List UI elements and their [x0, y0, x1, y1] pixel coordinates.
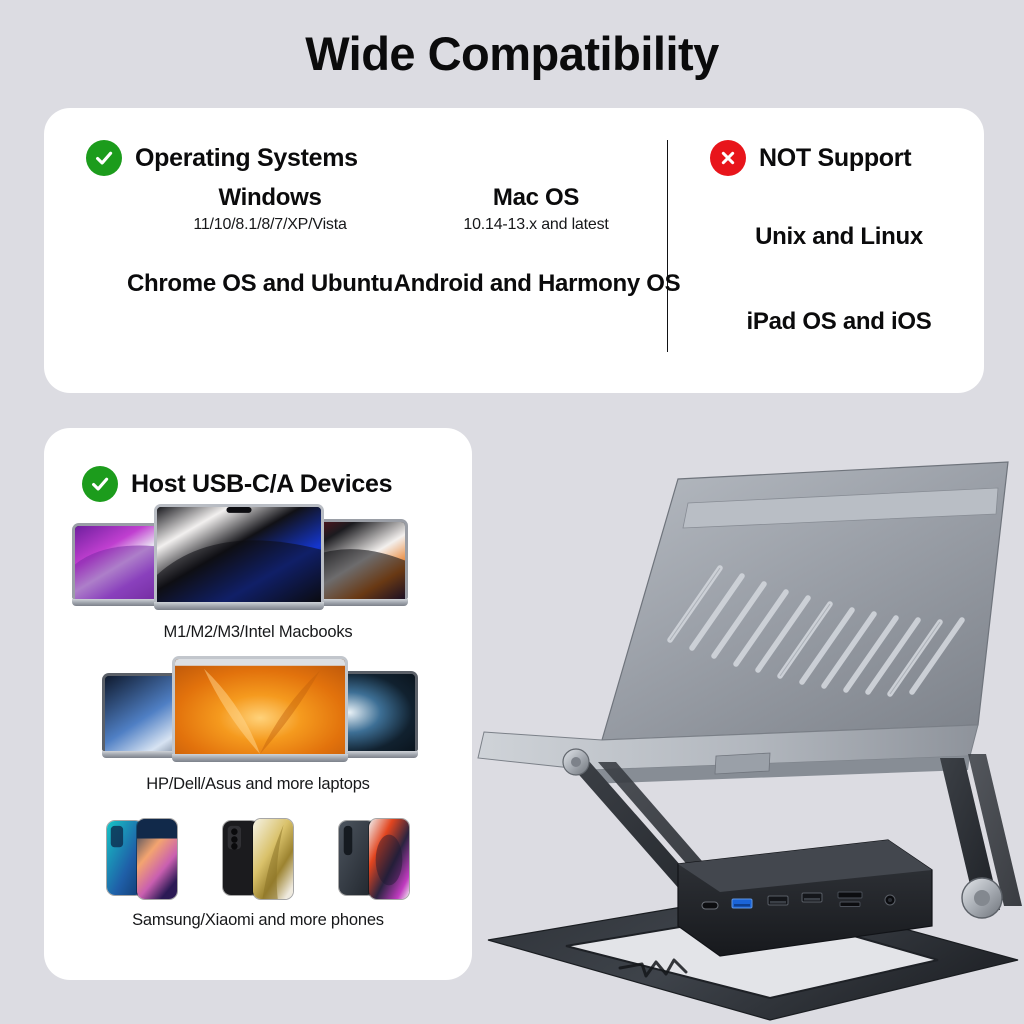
os-entry-detail: 10.14-13.x and latest	[402, 216, 670, 234]
macbooks-art	[64, 502, 452, 614]
port-usb-a	[802, 893, 822, 902]
port-usb-c	[702, 902, 718, 909]
check-circle-icon	[86, 140, 122, 176]
device-group-phones: Samsung/Xiaomi and more phones	[64, 816, 452, 930]
device-group-caption: Samsung/Xiaomi and more phones	[64, 911, 452, 930]
phone-image	[252, 818, 294, 900]
product-photo-laptop-stand	[470, 440, 1024, 1024]
port-usb-a	[768, 896, 788, 905]
device-group-caption: HP/Dell/Asus and more laptops	[64, 775, 452, 794]
os-entry-detail: 11/10/8.1/8/7/XP/Vista	[136, 216, 404, 234]
device-group-caption: M1/M2/M3/Intel Macbooks	[64, 623, 452, 642]
port-usb-a-blue	[732, 899, 752, 908]
check-circle-icon	[82, 466, 118, 502]
not-supported-item: Unix and Linux	[689, 223, 989, 251]
card-divider	[667, 140, 668, 352]
operating-systems-heading: Operating Systems	[86, 140, 358, 176]
device-group-macbooks: M1/M2/M3/Intel Macbooks	[64, 502, 452, 642]
os-entry-android-harmonyos: Android and Harmony OS	[392, 270, 682, 298]
not-supported-item: iPad OS and iOS	[689, 308, 989, 336]
device-group-windows-laptops: HP/Dell/Asus and more laptops	[64, 656, 452, 794]
laptop-image	[172, 656, 348, 762]
os-entry-name: Android and Harmony OS	[392, 270, 682, 298]
operating-systems-card: Operating Systems Windows 11/10/8.1/8/7/…	[44, 108, 984, 393]
port-sd-card-slot	[838, 892, 862, 898]
phone-image	[136, 818, 178, 900]
host-devices-label: Host USB-C/A Devices	[131, 470, 392, 499]
stand-tray	[478, 462, 1008, 784]
phone-image	[368, 818, 410, 900]
operating-systems-label: Operating Systems	[135, 144, 358, 173]
page-title: Wide Compatibility	[0, 26, 1024, 81]
not-support-heading: NOT Support	[710, 140, 911, 176]
x-circle-icon	[710, 140, 746, 176]
windows-laptops-art	[64, 656, 452, 766]
os-entry-chromeos-ubuntu: Chrome OS and Ubuntu	[116, 270, 404, 298]
not-support-label: NOT Support	[759, 144, 911, 173]
port-micro-sd-slot	[840, 902, 860, 907]
os-entry-windows: Windows 11/10/8.1/8/7/XP/Vista	[136, 184, 404, 234]
phones-art	[64, 816, 452, 902]
laptop-image	[154, 504, 324, 610]
host-devices-card: Host USB-C/A Devices	[44, 428, 472, 980]
os-entry-name: Windows	[136, 184, 404, 212]
os-entry-name: Chrome OS and Ubuntu	[116, 270, 404, 298]
os-entry-name: Mac OS	[402, 184, 670, 212]
os-entry-macos: Mac OS 10.14-13.x and latest	[402, 184, 670, 234]
host-devices-heading: Host USB-C/A Devices	[82, 466, 392, 502]
